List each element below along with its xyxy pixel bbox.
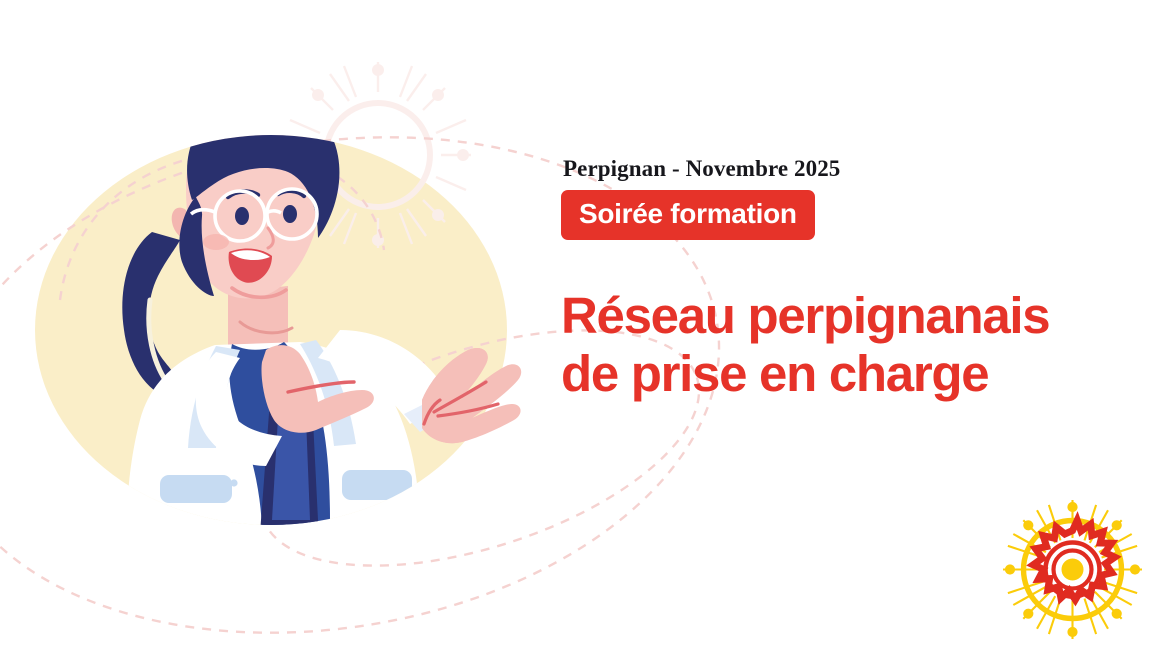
doctor-coat-button-bottom: [230, 479, 237, 486]
presentation-slide: Perpignan - Novembre 2025 Soirée formati…: [0, 0, 1170, 658]
doctor-hair: [187, 94, 339, 238]
doctor-glasses: [191, 189, 317, 241]
doctor-neck: [228, 286, 288, 360]
doctor-head: [186, 106, 322, 298]
doctor-ponytail: [122, 232, 180, 396]
doctor-coat-hem-shadow: [134, 518, 412, 542]
doctor-mouth: [229, 249, 272, 283]
doctor-eyebrow-right: [278, 191, 304, 196]
page-title: Réseau perpignanais de prise en charge: [561, 287, 1121, 403]
doctor-right-hand: [422, 348, 521, 443]
doctor-chin-shadow: [232, 288, 286, 297]
sun-virus-logo-icon: [995, 492, 1150, 647]
doctor-coat-lapel-right: [300, 340, 356, 446]
doctor-right-arm: [318, 330, 452, 424]
doctor-figure: [122, 94, 521, 560]
slide-text-block: Perpignan - Novembre 2025 Soirée formati…: [561, 156, 1121, 404]
doctor-navy-strip: [258, 400, 320, 560]
doctor-teeth: [231, 250, 270, 260]
decorative-sun-icon: [285, 62, 471, 248]
doctor-eyebrow-left: [228, 191, 258, 197]
cream-background-circle: [35, 135, 507, 525]
event-type-badge: Soirée formation: [561, 190, 815, 240]
doctor-nose: [268, 228, 273, 248]
doctor-lab-coat: [127, 342, 420, 560]
logo-center-dot: [1062, 559, 1084, 581]
doctor-coat-pocket-right: [342, 470, 412, 500]
doctor-right-hand-overlay: [422, 348, 521, 443]
page-title-line-1: Réseau perpignanais: [561, 287, 1121, 345]
doctor-eye-right: [283, 205, 297, 223]
dashed-arc-small: [60, 152, 384, 300]
doctor-cheek-blush: [203, 234, 229, 250]
doctor-right-cuff: [404, 392, 462, 432]
doctor-collar-shading: [240, 322, 292, 333]
event-date-line: Perpignan - Novembre 2025: [563, 156, 1121, 181]
doctor-hair-side: [179, 196, 214, 296]
doctor-navy-strip-light: [272, 418, 310, 520]
doctor-ponytail-highlight: [149, 300, 168, 384]
doctor-coat-pocket-left: [160, 475, 232, 503]
doctor-left-hand: [262, 345, 374, 433]
doctor-hands-overlay: [422, 348, 521, 443]
doctor-ear: [172, 208, 192, 241]
doctor-coat-lapel-left: [188, 346, 240, 448]
doctor-inner-top: [229, 342, 330, 560]
page-title-line-2: de prise en charge: [561, 345, 1121, 403]
doctor-coat-button-top: [232, 439, 239, 446]
doctor-left-arm: [196, 352, 282, 466]
doctor-eye-left: [235, 207, 249, 225]
